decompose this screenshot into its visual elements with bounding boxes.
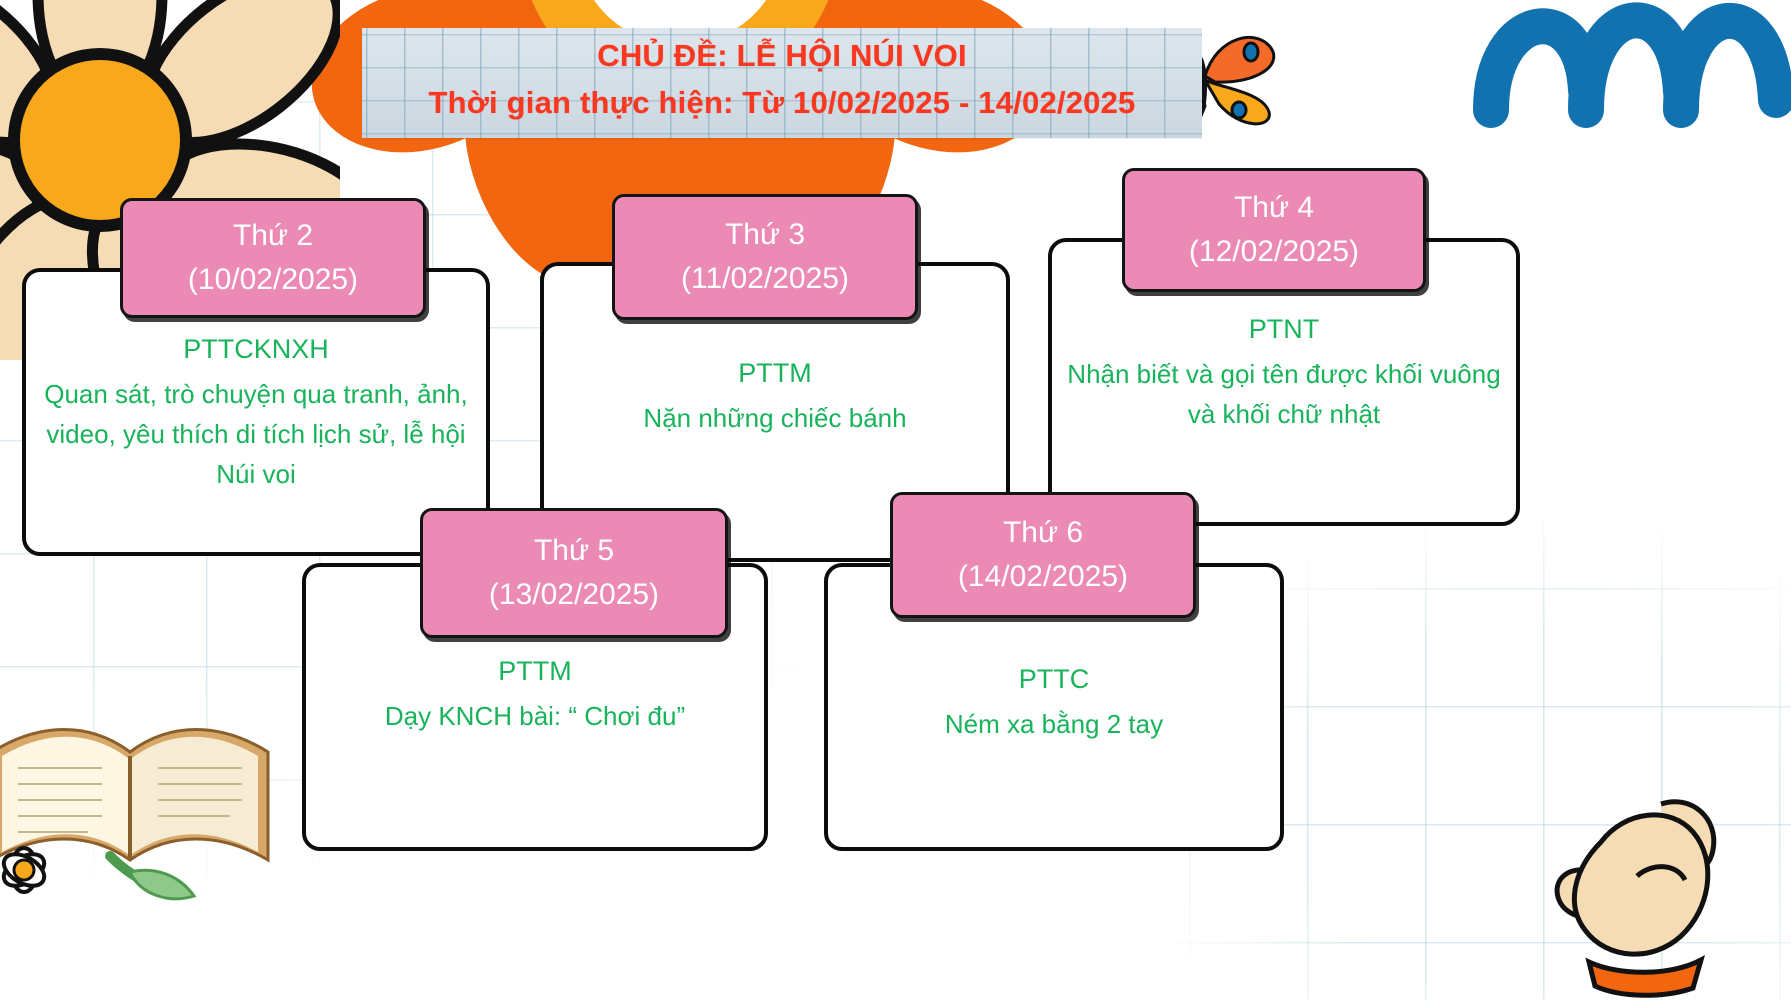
banner-title: CHỦ ĐỀ: LỄ HỘI NÚI VOI [362, 33, 1202, 79]
activity-code-tue: PTTM [540, 352, 1010, 394]
day-chip-date-mon: (10/02/2025) [188, 258, 358, 302]
day-content-wed: PTNT Nhận biết và gọi tên được khối vuôn… [1048, 308, 1520, 434]
day-chip-date-fri: (14/02/2025) [958, 555, 1128, 599]
day-chip-date-thu: (13/02/2025) [489, 573, 659, 617]
activity-desc-thu: Dạy KNCH bài: “ Chơi đu” [302, 696, 768, 736]
day-content-fri: PTTC Ném xa bằng 2 tay [824, 658, 1284, 744]
day-chip-name-wed: Thứ 4 [1234, 186, 1314, 230]
day-chip-mon[interactable]: Thứ 2 (10/02/2025) [120, 198, 426, 318]
day-chip-name-thu: Thứ 5 [534, 529, 614, 573]
day-content-mon: PTTCKNXH Quan sát, trò chuyện qua tranh,… [22, 328, 490, 494]
day-content-thu: PTTM Dạy KNCH bài: “ Chơi đu” [302, 650, 768, 736]
day-chip-name-tue: Thứ 3 [725, 213, 805, 257]
day-chip-tue[interactable]: Thứ 3 (11/02/2025) [612, 194, 918, 320]
day-chip-thu[interactable]: Thứ 5 (13/02/2025) [420, 508, 728, 638]
topic-banner: CHỦ ĐỀ: LỄ HỘI NÚI VOI Thời gian thực hi… [362, 28, 1202, 138]
activity-code-wed: PTNT [1048, 308, 1520, 350]
banner-subtitle: Thời gian thực hiện: Từ 10/02/2025 - 14/… [362, 79, 1202, 127]
activity-desc-wed: Nhận biết và gọi tên được khối vuông và … [1048, 354, 1520, 434]
activity-code-thu: PTTM [302, 650, 768, 692]
day-chip-date-tue: (11/02/2025) [681, 257, 849, 301]
day-chip-fri[interactable]: Thứ 6 (14/02/2025) [890, 492, 1196, 618]
day-chip-name-fri: Thứ 6 [1003, 511, 1083, 555]
slide-canvas: CHỦ ĐỀ: LỄ HỘI NÚI VOI Thời gian thực hi… [0, 0, 1791, 1000]
day-chip-wed[interactable]: Thứ 4 (12/02/2025) [1122, 168, 1426, 292]
activity-desc-mon: Quan sát, trò chuyện qua tranh, ảnh, vid… [22, 374, 490, 494]
activity-desc-tue: Nặn những chiếc bánh [540, 398, 1010, 438]
activity-desc-fri: Ném xa bằng 2 tay [824, 704, 1284, 744]
activity-code-fri: PTTC [824, 658, 1284, 700]
day-chip-date-wed: (12/02/2025) [1189, 230, 1359, 274]
day-content-tue: PTTM Nặn những chiếc bánh [540, 352, 1010, 438]
activity-code-mon: PTTCKNXH [22, 328, 490, 370]
day-chip-name-mon: Thứ 2 [233, 214, 313, 258]
